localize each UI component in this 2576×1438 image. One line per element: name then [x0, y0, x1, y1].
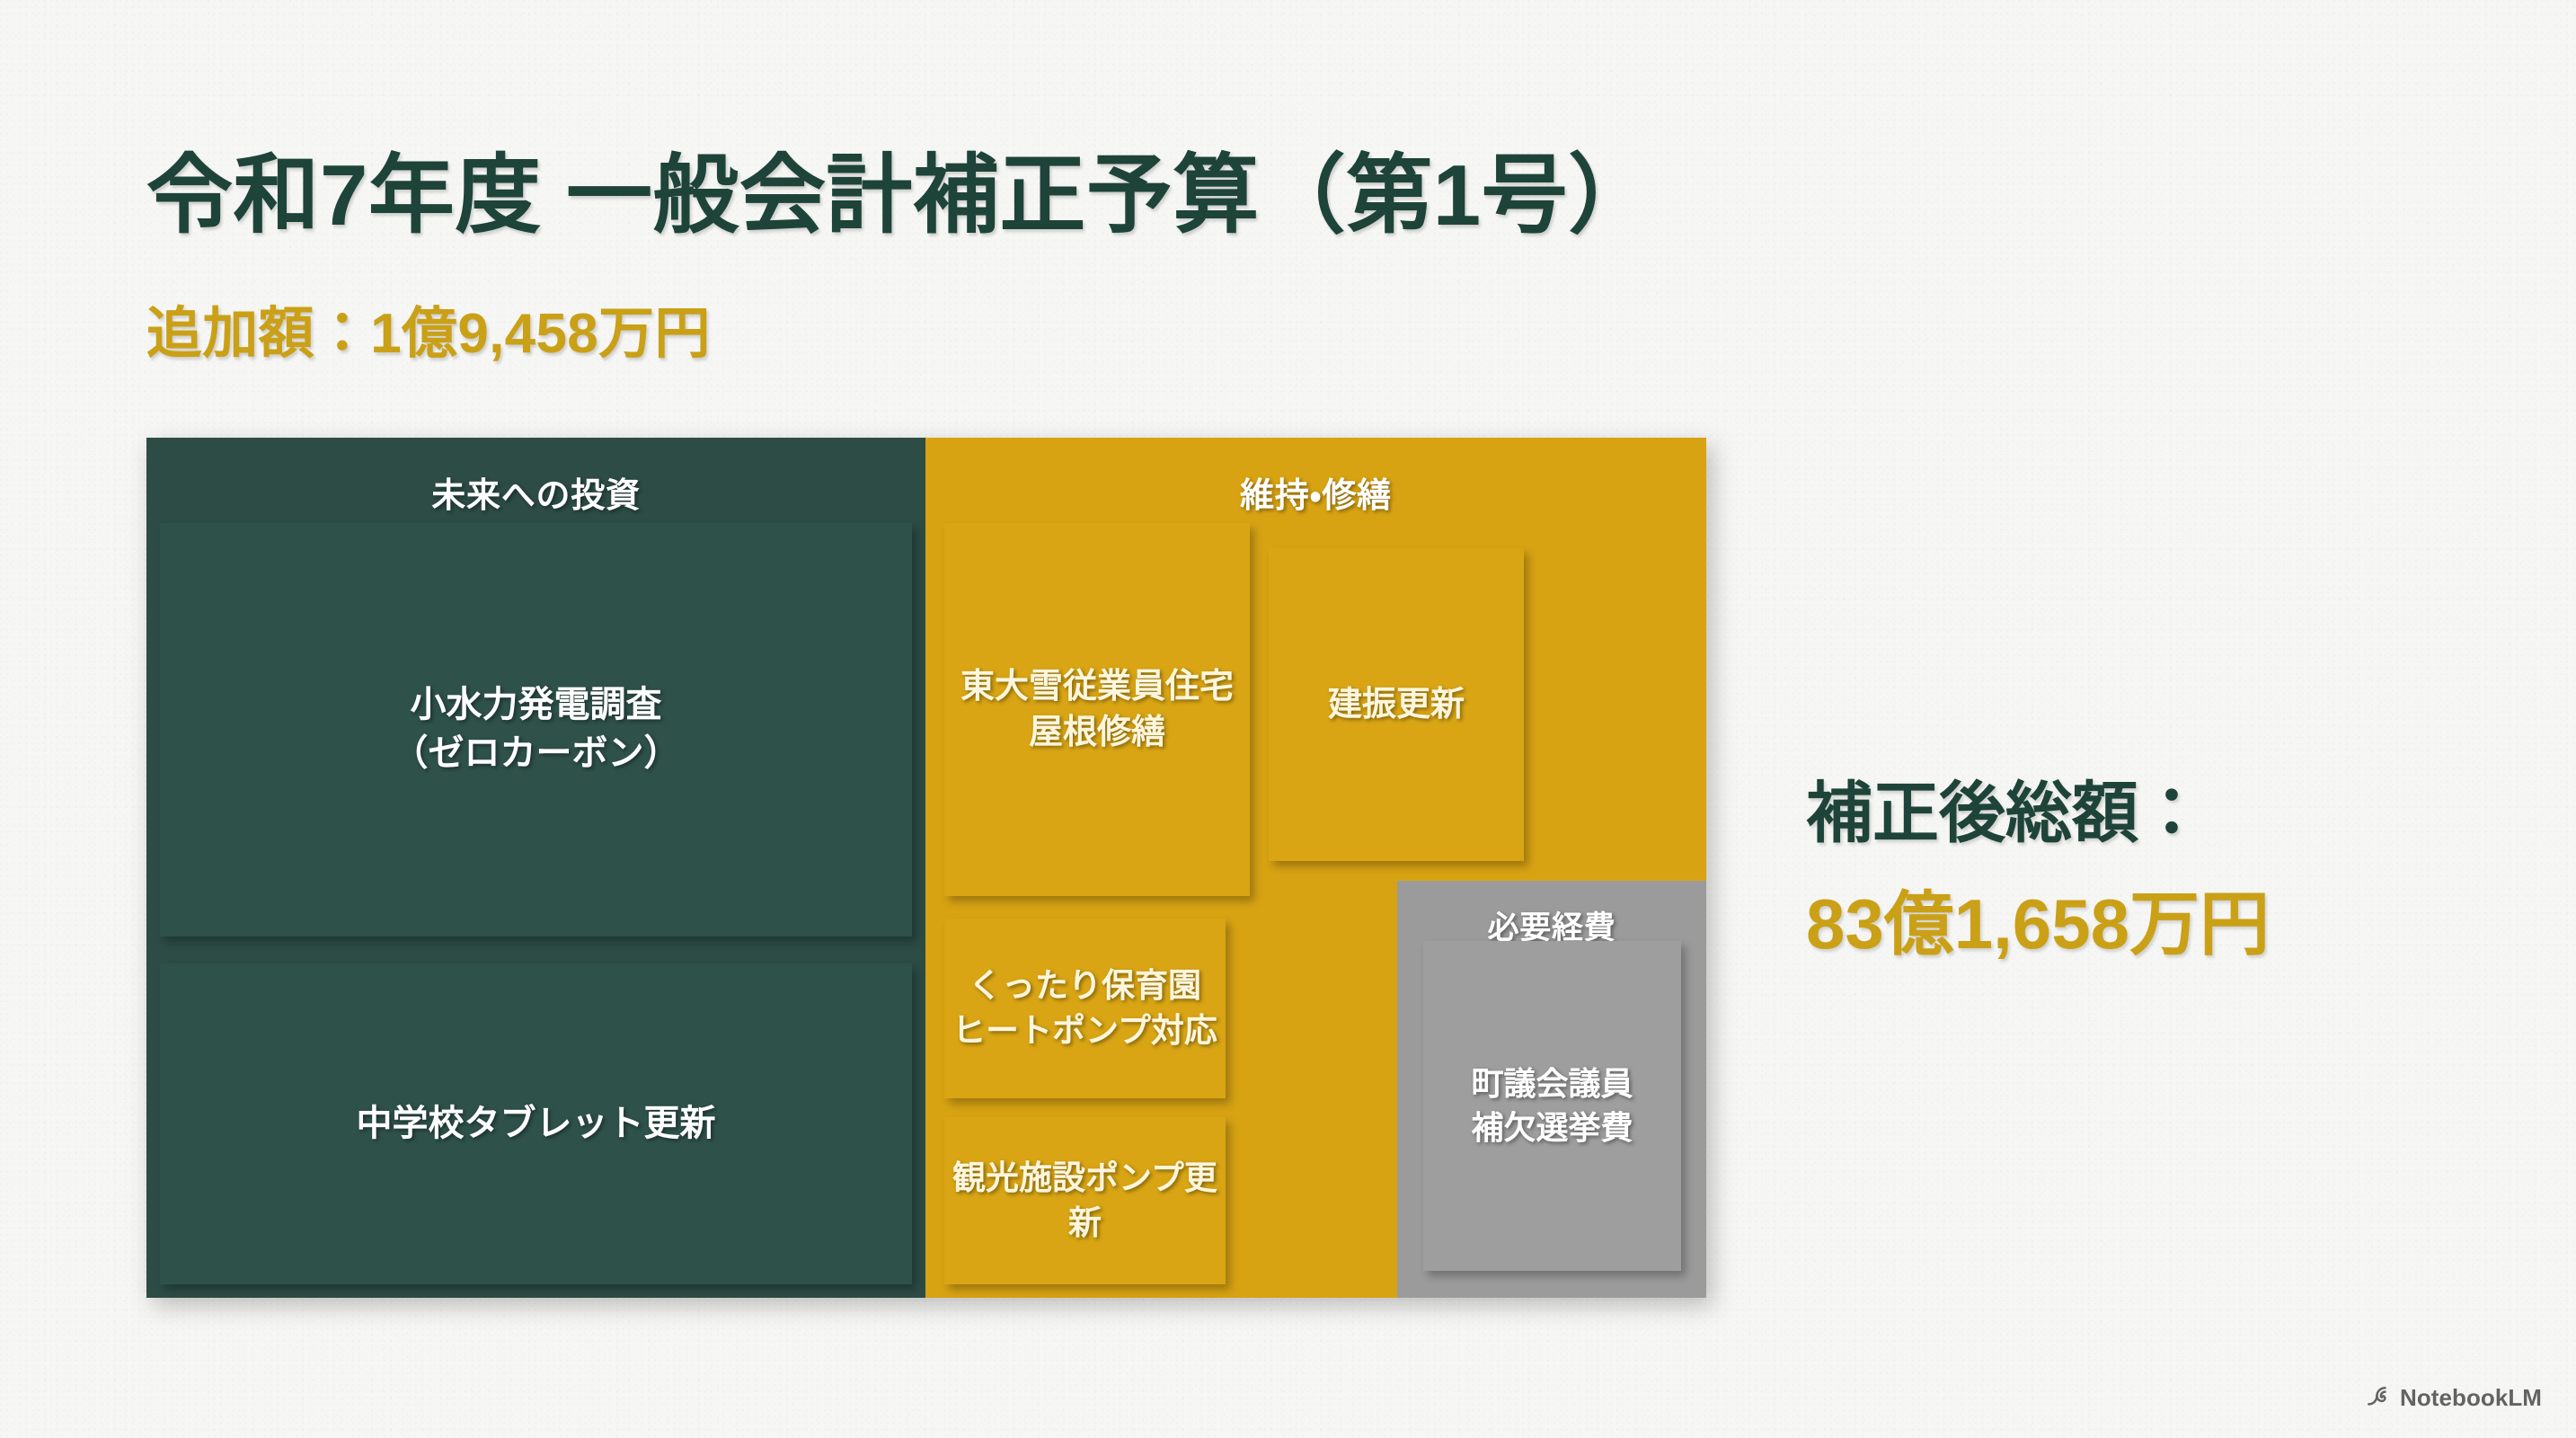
tile-line-1: 東大雪従業員住宅 [960, 664, 1234, 710]
notebooklm-watermark: NotebookLM [2366, 1383, 2542, 1413]
treemap-tile-tourism-facility-pump-renewal: 観光施設ポンプ更新 [944, 1117, 1226, 1284]
budget-treemap: 未来への投資 維持・修繕 必要経費 小水力発電調査 （ゼロカーボン） 中学校タブ… [146, 438, 1706, 1298]
tile-line-2: 屋根修繕 [960, 710, 1234, 756]
tile-line-2: ヒートポンプ対応 [952, 1008, 1217, 1053]
tile-line-1: 観光施設ポンプ更新 [944, 1156, 1226, 1245]
tile-line-2: （ゼロカーボン） [393, 730, 680, 778]
tile-line-1: 建振更新 [1328, 682, 1465, 728]
tile-line-1: 中学校タブレット更新 [357, 1100, 716, 1149]
tile-line-1: くったり保育園 [952, 963, 1217, 1008]
notebooklm-spiral-icon [2366, 1383, 2391, 1413]
tile-line-1: 小水力発電調査 [393, 681, 680, 730]
total-after-revision-block: 補正後総額： 83億1,658万円 [1806, 759, 2525, 969]
total-after-revision-label: 補正後総額： [1806, 759, 2525, 856]
total-after-revision-value: 83億1,658万円 [1806, 868, 2525, 969]
page-title: 令和7年度 一般会計補正予算（第1号） [146, 125, 1655, 250]
notebooklm-watermark-label: NotebookLM [2400, 1384, 2542, 1412]
treemap-tile-town-council-by-election-cost: 町議会議員 補欠選挙費 [1423, 941, 1681, 1271]
treemap-tile-kenshin-renewal: 建振更新 [1269, 548, 1524, 861]
treemap-tile-hydro-power-survey: 小水力発電調査 （ゼロカーボン） [160, 523, 912, 936]
treemap-tile-junior-high-tablet-renewal: 中学校タブレット更新 [160, 963, 912, 1284]
tile-line-2: 補欠選挙費 [1471, 1106, 1633, 1150]
treemap-tile-higashitaisetsu-housing-roof-repair: 東大雪従業員住宅 屋根修繕 [944, 523, 1250, 896]
page-subtitle-added-amount: 追加額：1億9,458万円 [146, 288, 711, 368]
treemap-group-label-maintenance: 維持・修繕 [925, 467, 1706, 517]
treemap-tile-kuttari-nursery-heat-pump: くったり保育園 ヒートポンプ対応 [944, 919, 1226, 1098]
treemap-group-label-future-investment: 未来への投資 [146, 467, 925, 517]
tile-line-1: 町議会議員 [1471, 1062, 1633, 1105]
